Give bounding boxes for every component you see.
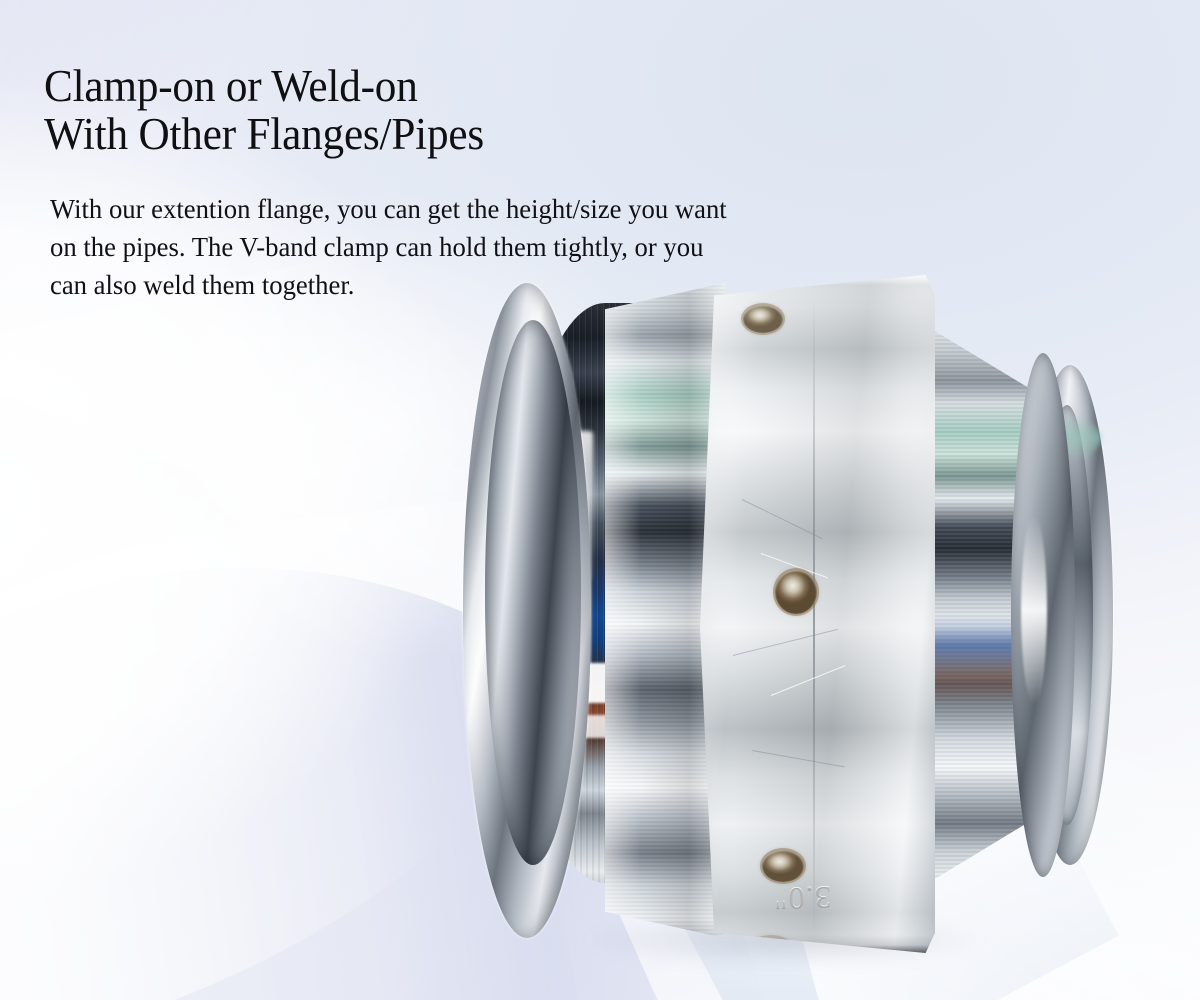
page-title: Clamp-on or Weld-on With Other Flanges/P…: [44, 62, 774, 158]
right-flange-highlight: [1021, 515, 1047, 705]
description-line-2: on the pipes. The V-band clamp can hold …: [50, 228, 967, 266]
product-photo: 3.0": [455, 265, 1120, 965]
v-band-clamp: 3.0": [700, 275, 935, 953]
clamp-rivet-lower: [762, 850, 804, 882]
left-flange-inner-rim: [485, 320, 581, 865]
clamp-top-edge: [700, 275, 935, 285]
clamp-gloss: [700, 275, 935, 953]
clamp-rivet-top: [743, 305, 783, 333]
clamp-rivet-middle: [775, 570, 817, 614]
clamp-seam-line: [813, 295, 815, 932]
description-line-1: With our extention flange, you can get t…: [50, 190, 967, 228]
promo-slide: Clamp-on or Weld-on With Other Flanges/P…: [0, 0, 1200, 1000]
headline-line-2: With Other Flanges/Pipes: [44, 110, 774, 158]
clamp-size-marking: 3.0": [738, 878, 865, 918]
headline-line-1: Clamp-on or Weld-on: [44, 61, 418, 111]
